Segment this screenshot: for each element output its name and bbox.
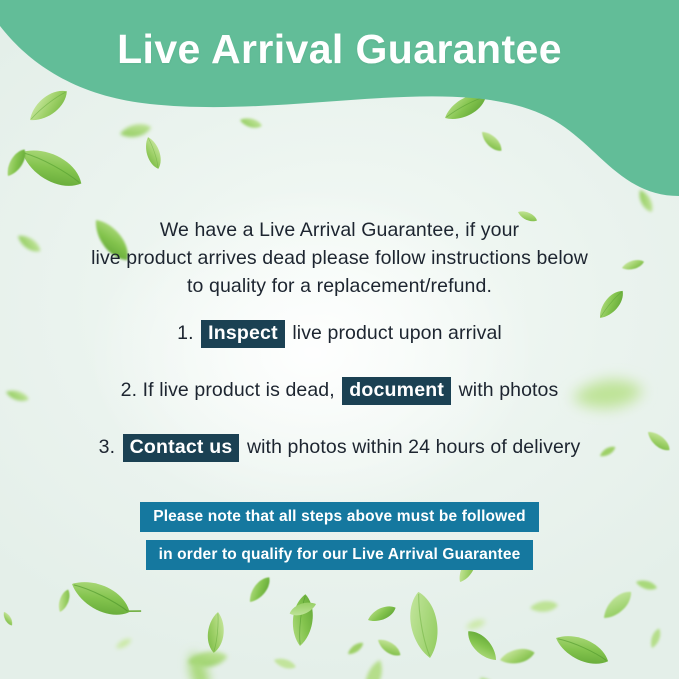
step-2-highlight: document bbox=[342, 377, 451, 405]
live-arrival-guarantee-graphic: Live Arrival Guarantee We have a Live Ar… bbox=[0, 0, 679, 679]
step-1-highlight: Inspect bbox=[201, 320, 285, 348]
steps-list: 1. Inspect live product upon arrival 2. … bbox=[40, 320, 639, 462]
step-3-number: 3. bbox=[99, 436, 115, 458]
step-item-2: 2. If live product is dead, document wit… bbox=[40, 377, 639, 405]
step-3-highlight: Contact us bbox=[123, 434, 240, 462]
intro-line-3: to quality for a replacement/refund. bbox=[55, 272, 624, 300]
page-title: Live Arrival Guarantee bbox=[0, 27, 679, 72]
content-area: We have a Live Arrival Guarantee, if you… bbox=[0, 0, 679, 679]
footer-note-line-1: Please note that all steps above must be… bbox=[140, 502, 539, 532]
intro-paragraph: We have a Live Arrival Guarantee, if you… bbox=[55, 216, 624, 300]
step-2-number: 2. bbox=[121, 379, 137, 401]
step-1-after: live product upon arrival bbox=[292, 322, 502, 344]
step-1-number: 1. bbox=[177, 322, 193, 344]
footer-note-banners: Please note that all steps above must be… bbox=[0, 502, 679, 570]
step-2-before: If live product is dead, bbox=[143, 379, 335, 401]
intro-line-2: live product arrives dead please follow … bbox=[55, 244, 624, 272]
step-item-3: 3. Contact us with photos within 24 hour… bbox=[40, 434, 639, 462]
footer-note-line-2: in order to qualify for our Live Arrival… bbox=[146, 540, 534, 570]
step-3-after: with photos within 24 hours of delivery bbox=[247, 436, 580, 458]
step-item-1: 1. Inspect live product upon arrival bbox=[40, 320, 639, 348]
intro-line-1: We have a Live Arrival Guarantee, if you… bbox=[55, 216, 624, 244]
step-2-after: with photos bbox=[459, 379, 559, 401]
